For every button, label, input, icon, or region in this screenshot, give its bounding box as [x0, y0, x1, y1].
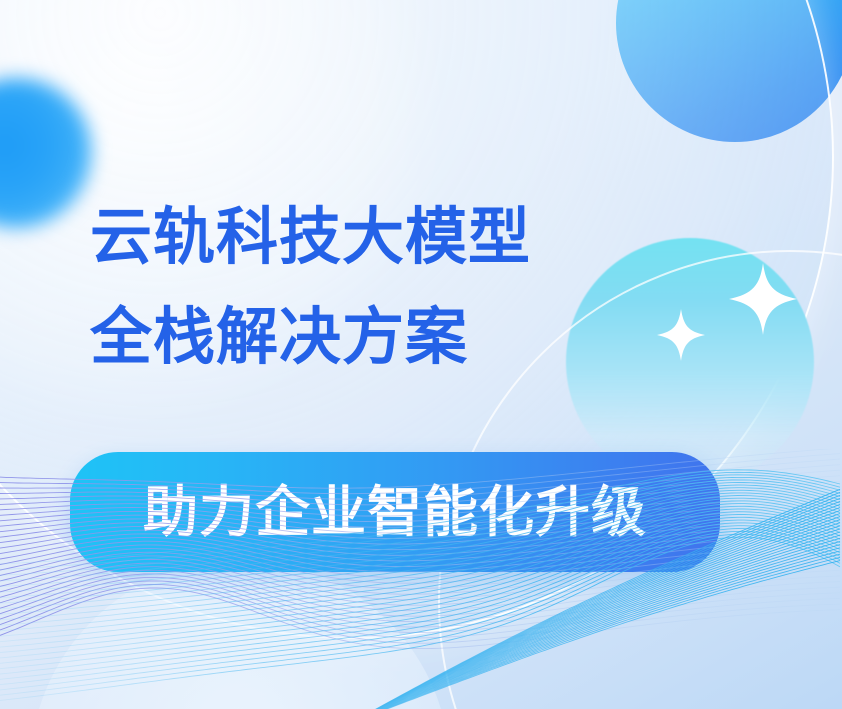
sparkle-icon-large — [729, 263, 797, 335]
promo-banner: 云轨科技大模型 全栈解决方案 助力企业智能化升级 — [0, 0, 842, 709]
tagline-badge-label: 助力企业智能化升级 — [143, 485, 647, 540]
headline-line-2: 全栈解决方案 — [90, 288, 531, 388]
headline-line-1: 云轨科技大模型 — [90, 188, 531, 288]
sparkle-icon-small — [657, 309, 705, 361]
tagline-badge[interactable]: 助力企业智能化升级 — [70, 452, 720, 572]
headline: 云轨科技大模型 全栈解决方案 — [90, 188, 531, 388]
